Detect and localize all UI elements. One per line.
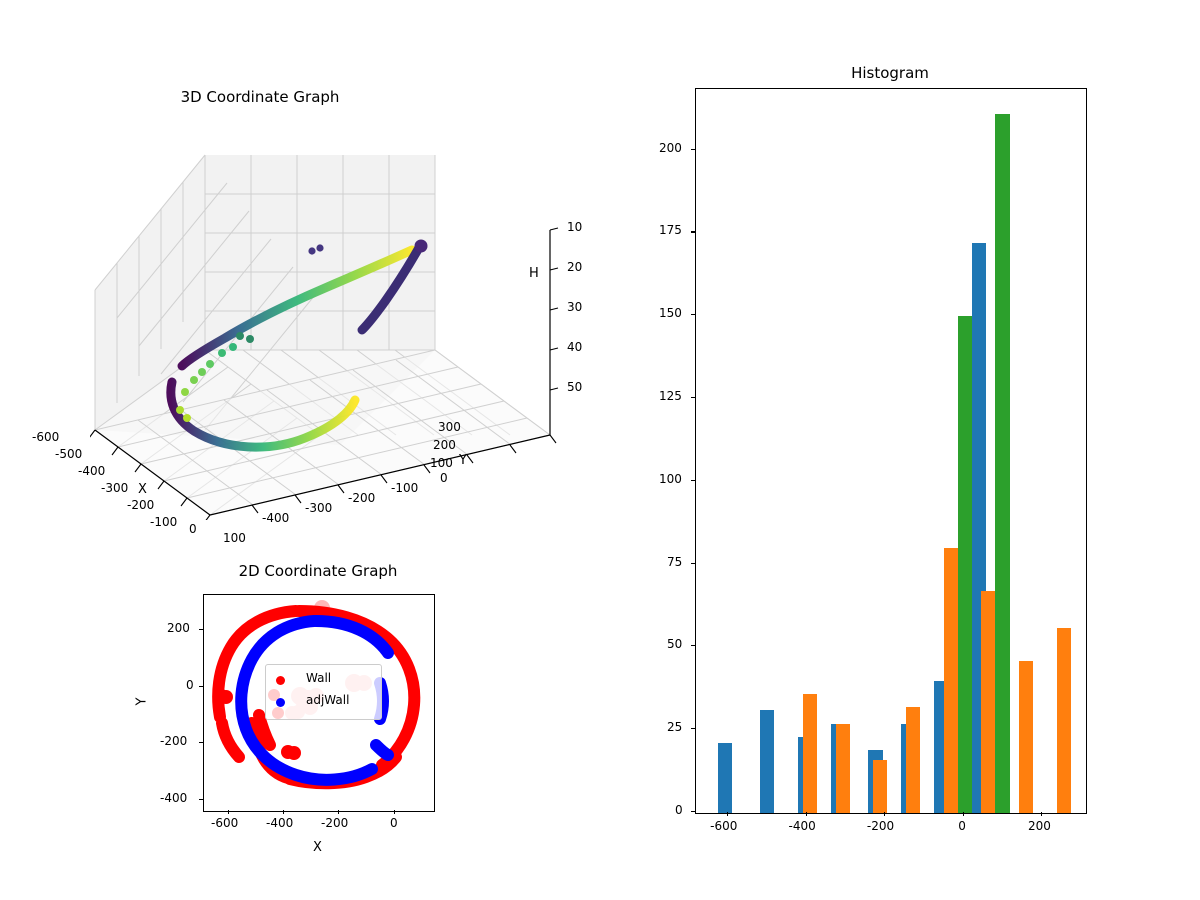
histogram-ytick: 125: [659, 389, 682, 403]
histogram-ytick-mark: [691, 314, 695, 315]
plot3d-xtick: -400: [78, 464, 105, 478]
histogram-xtick-mark: [884, 812, 885, 816]
histogram-bar: [718, 743, 732, 813]
plot2d-xtick: 0: [390, 816, 398, 830]
plot2d-ytick: 0: [186, 678, 194, 692]
plot2d-xtick: -400: [266, 816, 293, 830]
plot2d-xtick-mark: [338, 810, 339, 814]
plot3d-xlabel: X: [138, 482, 147, 497]
histogram-ytick-mark: [691, 563, 695, 564]
matplotlib-figure: 3D Coordinate Graph: [0, 0, 1200, 900]
plot3d-xtick: -600: [32, 430, 59, 444]
histogram-ytick-mark: [691, 480, 695, 481]
histogram-ytick-mark: [691, 397, 695, 398]
histogram-xtick: 0: [958, 819, 966, 833]
plot3d-ztick: 20: [567, 260, 582, 274]
histogram-bar: [981, 591, 995, 813]
plot3d-canvas: [90, 100, 560, 520]
plot3d-xtick: -200: [127, 498, 154, 512]
plot3d-xtick: -300: [101, 481, 128, 495]
plot3d-ytick: 300: [438, 420, 461, 434]
plot3d-ytick: 100: [430, 456, 453, 470]
plot2d-ytick-mark: [199, 799, 203, 800]
plot3d-ylabel: Y: [459, 453, 467, 468]
histogram-ytick-mark: [691, 231, 695, 232]
plot3d-axes[interactable]: X Y H -600 -500 -400 -300 -200 -100 0 10…: [90, 100, 560, 520]
plot3d-ztick: 30: [567, 300, 582, 314]
histogram-ytick: 50: [667, 637, 682, 651]
plot3d-ytick: -300: [305, 501, 332, 515]
plot3d-ytick: 200: [433, 438, 456, 452]
plot2d-xtick-mark: [283, 810, 284, 814]
legend-label-wall: Wall: [306, 671, 331, 685]
plot3d-xtick: -500: [55, 447, 82, 461]
plot3d-ytick: -100: [391, 481, 418, 495]
histogram-ytick: 200: [659, 141, 682, 155]
histogram-bar: [944, 548, 958, 813]
histogram-ytick-mark: [691, 811, 695, 812]
plot3d-ztick: 40: [567, 340, 582, 354]
histogram-xtick-mark: [727, 812, 728, 816]
histogram-bar: [873, 760, 887, 813]
histogram-ytick: 25: [667, 720, 682, 734]
plot3d-zlabel: H: [529, 266, 539, 281]
plot2d-xtick: -200: [321, 816, 348, 830]
plot2d-legend[interactable]: Wall adjWall: [265, 664, 382, 720]
plot2d-ytick-mark: [199, 742, 203, 743]
plot2d-ytick-mark: [199, 686, 203, 687]
plot3d-xtick: 100: [223, 531, 246, 545]
histogram-ytick-mark: [691, 149, 695, 150]
plot2d-xtick-mark: [228, 810, 229, 814]
histogram-xtick-mark: [1041, 812, 1042, 816]
histogram-ytick: 75: [667, 555, 682, 569]
histogram-xtick-mark: [963, 812, 964, 816]
plot3d-ytick: 0: [440, 471, 448, 485]
plot3d-ztick: 50: [567, 380, 582, 394]
plot2d-ytick: -200: [160, 734, 187, 748]
plot2d-ylabel: Y: [134, 698, 149, 706]
histogram-xtick: -400: [789, 819, 816, 833]
plot3d-ytick: -200: [348, 491, 375, 505]
legend-marker-wall: [276, 676, 285, 685]
legend-label-adjwall: adjWall: [306, 693, 349, 707]
histogram-bar: [836, 724, 850, 813]
plot2d-title: 2D Coordinate Graph: [195, 562, 441, 580]
plot2d-xtick: -600: [211, 816, 238, 830]
histogram-bars: [696, 89, 1086, 813]
histogram-xtick: -200: [867, 819, 894, 833]
histogram-bar: [995, 114, 1009, 813]
plot2d-ytick-mark: [199, 629, 203, 630]
legend-marker-adjwall: [276, 698, 285, 707]
histogram-bar: [1019, 661, 1033, 813]
z-ticks: [550, 228, 558, 390]
histogram-ytick-mark: [691, 645, 695, 646]
plot3d-xtick: -100: [150, 515, 177, 529]
histogram-xtick: 200: [1028, 819, 1051, 833]
plot2d-xtick-mark: [394, 810, 395, 814]
plot3d-ytick: -400: [262, 511, 289, 525]
plot3d-xtick: 0: [189, 522, 197, 536]
histogram-ytick: 0: [675, 803, 683, 817]
plot2d-ytick: -400: [160, 791, 187, 805]
histogram-ytick: 100: [659, 472, 682, 486]
histogram-ytick: 150: [659, 306, 682, 320]
histogram-axes[interactable]: [695, 88, 1087, 814]
histogram-bar: [1057, 628, 1071, 813]
histogram-ytick-mark: [691, 728, 695, 729]
plot2d-ytick: 200: [167, 621, 190, 635]
histogram-bar: [803, 694, 817, 813]
histogram-ytick: 175: [659, 223, 682, 237]
histogram-xtick-mark: [806, 812, 807, 816]
plot2d-xlabel: X: [313, 840, 322, 855]
histogram-bar: [958, 316, 972, 813]
histogram-bar: [906, 707, 920, 813]
histogram-xtick: -600: [710, 819, 737, 833]
histogram-bar: [760, 710, 774, 813]
histogram-title: Histogram: [695, 64, 1085, 82]
plot3d-ztick: 10: [567, 220, 582, 234]
